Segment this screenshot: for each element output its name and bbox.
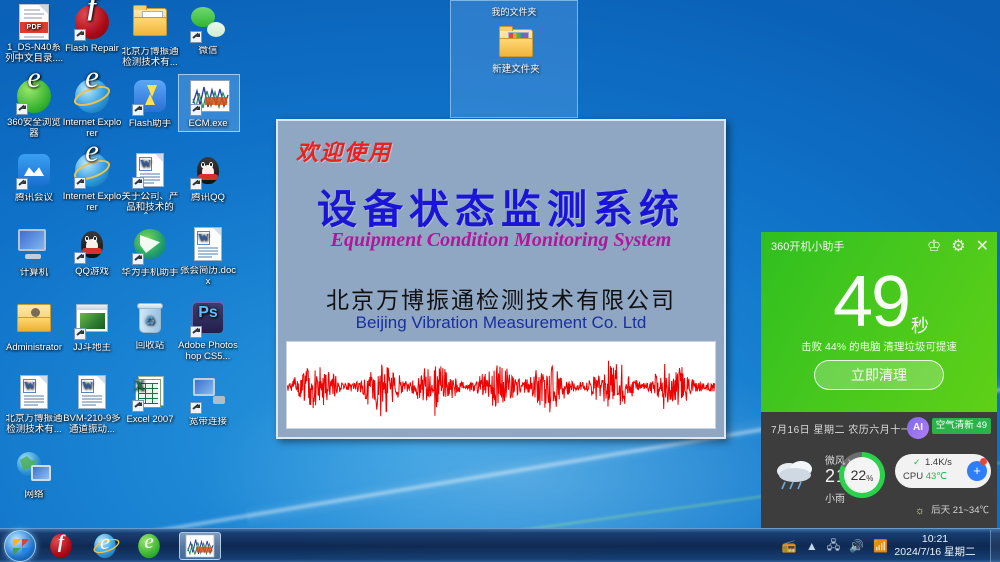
folder-icon	[133, 8, 167, 36]
icon-glyph	[16, 304, 52, 340]
weather-date: 7月16日 星期二 农历六月十一	[771, 421, 911, 436]
taskbar-item-ecm-app[interactable]	[179, 532, 221, 560]
shortcut-arrow-icon	[16, 103, 28, 115]
icon-glyph	[190, 154, 226, 190]
word-document-icon: W	[194, 227, 222, 261]
recycle-bin-icon: ♻	[137, 302, 163, 334]
volume-icon[interactable]: 🔊	[849, 539, 864, 553]
desktop-icon-label: 腾讯会议	[4, 193, 64, 204]
shortcut-arrow-icon	[132, 177, 144, 189]
desktop-icon-grid: PDF1_DS-N40系列中文目录....Flash Repair北京万博振通检…	[0, 0, 240, 528]
desktop-icon[interactable]: Flash Repair	[62, 4, 122, 55]
desktop-icon-label: Excel 2007	[120, 415, 180, 426]
start-button[interactable]	[4, 530, 36, 562]
folder-item-new[interactable]: 新建文件夹	[485, 25, 547, 75]
tip-bulb-icon: ☼	[915, 505, 925, 517]
desktop-icon[interactable]: 微信	[178, 4, 238, 57]
shortcut-arrow-icon	[190, 104, 202, 116]
memory-usage-ring[interactable]: 22%	[839, 452, 885, 498]
desktop-icon[interactable]: 北京万博振通检测技术有...	[120, 4, 180, 68]
icon-glyph	[190, 80, 226, 116]
icon-glyph	[132, 229, 168, 265]
waveform-svg	[287, 342, 715, 428]
desktop-icon-label: 网络	[4, 490, 64, 501]
desktop-icon-label: 宽带连接	[178, 417, 238, 428]
notification-dot	[980, 458, 987, 465]
shortcut-arrow-icon	[16, 178, 28, 190]
desktop-icon[interactable]: Internet Explorer	[62, 78, 122, 139]
gear-icon[interactable]: ⚙	[951, 236, 965, 256]
desktop-icon[interactable]: 360安全浏览器	[4, 78, 64, 139]
desktop-icon[interactable]: 宽带连接	[178, 374, 238, 428]
cpu-temp-value: 43℃	[926, 471, 947, 482]
system-tray: 📻▲🖧🔊📶	[782, 529, 888, 562]
boot-seconds-value: 49	[833, 262, 909, 342]
shortcut-arrow-icon	[74, 252, 86, 264]
desktop-icon[interactable]: W北京万博振通检测技术有...	[4, 374, 64, 435]
desktop-icon-label: 腾讯QQ	[178, 193, 238, 204]
vibration-waveform-panel	[286, 341, 716, 429]
internet-explorer-icon	[94, 534, 116, 558]
desktop-icon-label: 张会简历.docx	[178, 266, 238, 287]
memory-usage-value: 22	[851, 467, 867, 483]
desktop-icon-label: 华为手机助手	[120, 268, 180, 279]
computer-icon	[17, 229, 51, 259]
icon-glyph	[74, 304, 110, 340]
shortcut-arrow-icon	[132, 104, 144, 116]
desktop-icon[interactable]: Administrator	[4, 300, 64, 354]
chevron-up-icon[interactable]: ▲	[806, 539, 818, 553]
desktop-icon[interactable]: 华为手机助手	[120, 226, 180, 279]
desktop-icon-label: ECM.exe	[178, 119, 238, 130]
taskbar-item-360-browser[interactable]	[134, 532, 164, 560]
desktop-icon[interactable]: Flash助手	[120, 78, 180, 130]
shortcut-arrow-icon	[190, 31, 202, 43]
clock[interactable]: 10:21 2024/7/16 星期二	[892, 533, 978, 559]
weather-condition: 小雨	[825, 490, 845, 505]
shortcut-arrow-icon	[74, 177, 86, 189]
shortcut-arrow-icon	[74, 328, 86, 340]
taskbar-item-internet-explorer[interactable]	[90, 532, 120, 560]
desktop-icon-label: 计算机	[4, 268, 64, 279]
shortcut-arrow-icon	[74, 29, 86, 41]
desktop-icon-label: 360安全浏览器	[4, 118, 64, 139]
pdf-file-icon: PDF	[19, 4, 49, 40]
boot-seconds-unit: 秒	[911, 316, 927, 336]
clean-now-button[interactable]: 立即清理	[814, 360, 944, 390]
icon-glyph	[74, 5, 110, 41]
network-icon[interactable]: 🖧	[827, 536, 840, 557]
shortcut-arrow-icon	[190, 178, 202, 190]
splash-company-cn: 北京万博振通检测技术有限公司	[278, 281, 724, 315]
clock-time: 10:21	[892, 533, 978, 546]
taskbar: 📻▲🖧🔊📶 10:21 2024/7/16 星期二	[0, 528, 1000, 562]
forecast-text: 后天 21~34℃	[931, 502, 989, 516]
weather-widget[interactable]: 7月16日 星期二 农历六月十一 AI 空气清新 49 微风 › 21~31 小…	[761, 412, 997, 528]
desktop-icon-label: BVM-210-9多通道振动...	[62, 414, 122, 435]
clock-date: 2024/7/16 星期二	[892, 546, 978, 559]
welcome-text: 欢迎使用	[296, 135, 392, 167]
desktop-icon[interactable]: Adobe Photoshop CS5...	[178, 300, 238, 362]
network-icon	[17, 451, 51, 481]
desktop-icon[interactable]: 网络	[4, 448, 64, 501]
icon-glyph	[16, 154, 52, 190]
explorer-header-label: 我的文件夹	[451, 1, 577, 18]
icon-glyph	[132, 8, 168, 44]
desktop-icon-label: Flash Repair	[62, 44, 122, 55]
desktop-icon[interactable]: 计算机	[4, 226, 64, 279]
rain-cloud-icon	[773, 456, 819, 490]
desktop-icon-label: JJ斗地主	[62, 343, 122, 354]
word-document-icon: W	[20, 375, 48, 409]
ai-badge[interactable]: AI	[907, 417, 929, 439]
desktop-icon[interactable]: ♻回收站	[120, 300, 180, 352]
desktop-icon[interactable]: Internet Explorer	[62, 152, 122, 213]
icon-glyph: W	[190, 227, 226, 263]
desktop-icon[interactable]: WBVM-210-9多通道振动...	[62, 374, 122, 435]
desktop-icon[interactable]: QQ游戏	[62, 226, 122, 278]
360-boot-assistant-widget[interactable]: 360开机小助手 ♔ ⚙ ✕ 49秒 击败 44% 的电脑 清理垃圾可提速 立即…	[761, 232, 997, 412]
desktop-icon[interactable]: 腾讯QQ	[178, 152, 238, 204]
close-icon[interactable]: ✕	[976, 236, 989, 256]
desktop-icon[interactable]: XExcel 2007	[120, 374, 180, 426]
splash-title-cn: 设备状态监测系统	[278, 177, 724, 235]
desktop-icon-label: Adobe Photoshop CS5...	[178, 341, 238, 362]
icon-glyph	[16, 79, 52, 115]
ecm-app-icon	[186, 534, 215, 557]
internet-explorer-icon	[75, 79, 109, 113]
icon-glyph: X	[132, 376, 168, 412]
icon-glyph	[190, 302, 226, 338]
show-desktop-button[interactable]	[990, 530, 1000, 562]
icon-glyph	[74, 153, 110, 189]
folder-item-label: 新建文件夹	[492, 64, 540, 75]
icon-glyph	[190, 7, 226, 43]
desktop-icon-label: 关于公司、产品和技术的介...	[120, 192, 180, 214]
widget-title: 360开机小助手	[771, 238, 844, 254]
icon-glyph	[74, 79, 110, 115]
boot-subtitle: 击败 44% 的电脑 清理垃圾可提速	[761, 339, 997, 354]
word-document-icon: W	[78, 375, 106, 409]
signal-icon[interactable]: 📶	[873, 539, 888, 553]
desktop-icon-label: Flash助手	[120, 119, 180, 130]
icon-glyph	[16, 451, 52, 487]
system-status-pill[interactable]: ✓ 1.4K/s CPU 43℃ +	[895, 454, 991, 488]
cpu-temp-label: CPU 43℃	[903, 471, 947, 482]
user-folder-icon	[17, 304, 51, 332]
icon-glyph: W	[74, 375, 110, 411]
desktop-icon[interactable]: W张会简历.docx	[178, 226, 238, 287]
desktop-icon[interactable]: ECM.exe	[178, 78, 238, 130]
icon-glyph: PDF	[16, 4, 52, 40]
memory-usage-unit: %	[866, 474, 873, 483]
desktop-icon-label: 北京万博振通检测技术有...	[120, 47, 180, 68]
splash-title-en: Equipment Condition Monitoring System	[278, 229, 724, 252]
desktop-icon-label: 北京万博振通检测技术有...	[4, 414, 64, 435]
desktop-icon[interactable]: JJ斗地主	[62, 300, 122, 354]
windows-logo-icon	[13, 539, 29, 555]
shortcut-arrow-icon	[190, 326, 202, 338]
network-speed: 1.4K/s	[925, 457, 952, 468]
desktop-icon-label: Internet Explorer	[62, 192, 122, 213]
icon-glyph	[74, 228, 110, 264]
desktop-icon-label: 微信	[178, 46, 238, 57]
splash-company-en: Beijing Vibration Measurement Co. Ltd	[278, 313, 724, 333]
air-quality-badge: 空气清新 49	[932, 418, 991, 434]
desktop-icon-label: 回收站	[120, 341, 180, 352]
shortcut-arrow-icon	[190, 402, 202, 414]
shortcut-arrow-icon	[132, 400, 144, 412]
taskbar-item-flash-repair[interactable]	[46, 532, 76, 560]
flash-icon	[50, 534, 72, 558]
icon-glyph: ♻	[132, 302, 168, 338]
desktop-icon[interactable]: 腾讯会议	[4, 152, 64, 204]
icon-glyph: W	[132, 153, 168, 189]
360-browser-icon	[138, 534, 160, 558]
icon-glyph: W	[16, 375, 52, 411]
explorer-selection-region[interactable]: 我的文件夹 新建文件夹	[450, 0, 578, 118]
shortcut-arrow-icon	[132, 253, 144, 265]
widget-toolbar: ♔ ⚙ ✕	[927, 236, 989, 256]
desktop-icon-label: QQ游戏	[62, 267, 122, 278]
icon-glyph	[190, 378, 226, 414]
check-icon: ✓	[913, 457, 921, 468]
radio-icon[interactable]: 📻	[782, 539, 797, 553]
folder-icon	[499, 29, 533, 57]
desktop-icon[interactable]: PDF1_DS-N40系列中文目录....	[4, 4, 64, 64]
shirt-icon[interactable]: ♔	[927, 236, 941, 256]
desktop-icon[interactable]: W关于公司、产品和技术的介...	[120, 152, 180, 214]
icon-glyph	[132, 80, 168, 116]
splash-window[interactable]: 欢迎使用 设备状态监测系统 Equipment Condition Monito…	[276, 119, 726, 439]
icon-glyph	[16, 229, 52, 265]
desktop-icon-label: Administrator	[4, 343, 64, 354]
